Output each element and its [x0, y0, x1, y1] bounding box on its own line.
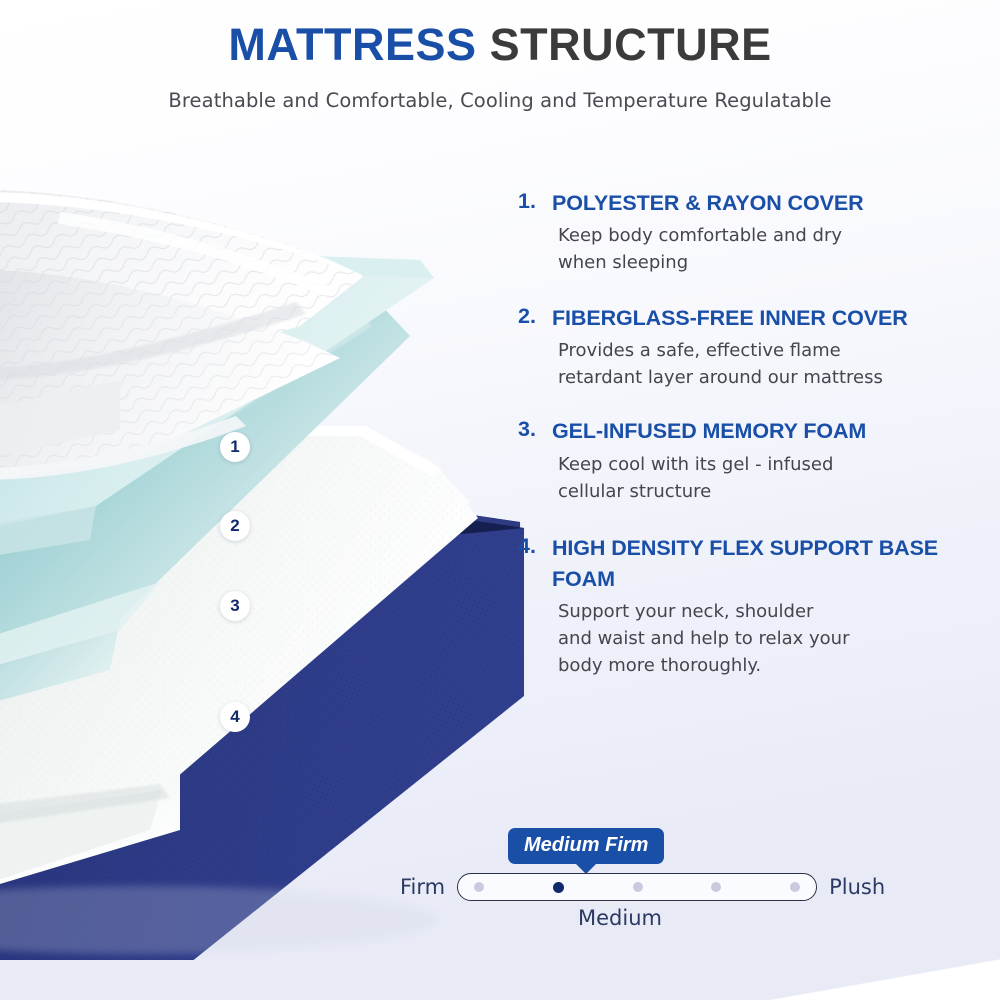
feature-3-number: 3.: [518, 416, 552, 444]
feature-item-3: 3. GEL-INFUSED MEMORY FOAM Keep cool wit…: [518, 416, 988, 504]
feature-4-number: 4.: [518, 533, 552, 561]
feature-3-description: Keep cool with its gel - infused cellula…: [558, 451, 988, 505]
firmness-scale: Medium Firm Firm Plush Medium: [400, 828, 960, 948]
title-primary: MATTRESS: [228, 19, 476, 70]
firmness-track[interactable]: [457, 873, 817, 901]
firmness-dot-4[interactable]: [711, 882, 721, 892]
feature-2-number: 2.: [518, 303, 552, 331]
feature-1-title: POLYESTER & RAYON COVER: [552, 188, 864, 219]
layer-marker-3: 3: [220, 591, 250, 621]
firmness-dot-2[interactable]: [553, 882, 564, 893]
layer-marker-2: 2: [220, 511, 250, 541]
header: MATTRESS STRUCTURE Breathable and Comfor…: [0, 0, 1000, 112]
feature-item-2: 2. FIBERGLASS-FREE INNER COVER Provides …: [518, 303, 988, 391]
feature-4-description: Support your neck, shoulder and waist an…: [558, 598, 988, 679]
feature-1-number: 1.: [518, 188, 552, 216]
feature-list: 1. POLYESTER & RAYON COVER Keep body com…: [518, 188, 988, 679]
feature-4-title: HIGH DENSITY FLEX SUPPORT BASE FOAM: [552, 533, 988, 595]
firmness-dot-3[interactable]: [633, 882, 643, 892]
firmness-dot-1[interactable]: [474, 882, 484, 892]
page-subtitle: Breathable and Comfortable, Cooling and …: [0, 89, 1000, 112]
layer-marker-4: 4: [220, 702, 250, 732]
feature-1-description: Keep body comfortable and dry when sleep…: [558, 222, 988, 276]
title-secondary: STRUCTURE: [490, 19, 772, 70]
feature-2-description: Provides a safe, effective flame retarda…: [558, 337, 988, 391]
feature-item-4: 4. HIGH DENSITY FLEX SUPPORT BASE FOAM S…: [518, 533, 988, 679]
feature-item-1: 1. POLYESTER & RAYON COVER Keep body com…: [518, 188, 988, 276]
feature-2-title: FIBERGLASS-FREE INNER COVER: [552, 303, 908, 334]
firmness-label-medium: Medium: [400, 906, 840, 930]
firmness-dot-5[interactable]: [790, 882, 800, 892]
page-title: MATTRESS STRUCTURE: [0, 0, 1000, 67]
firmness-label-firm: Firm: [400, 875, 445, 899]
firmness-label-plush: Plush: [829, 875, 885, 899]
firmness-tooltip-badge: Medium Firm: [508, 828, 664, 864]
layer-marker-1: 1: [220, 432, 250, 462]
firmness-scale-row: Firm Plush: [400, 873, 885, 901]
feature-3-title: GEL-INFUSED MEMORY FOAM: [552, 416, 866, 447]
